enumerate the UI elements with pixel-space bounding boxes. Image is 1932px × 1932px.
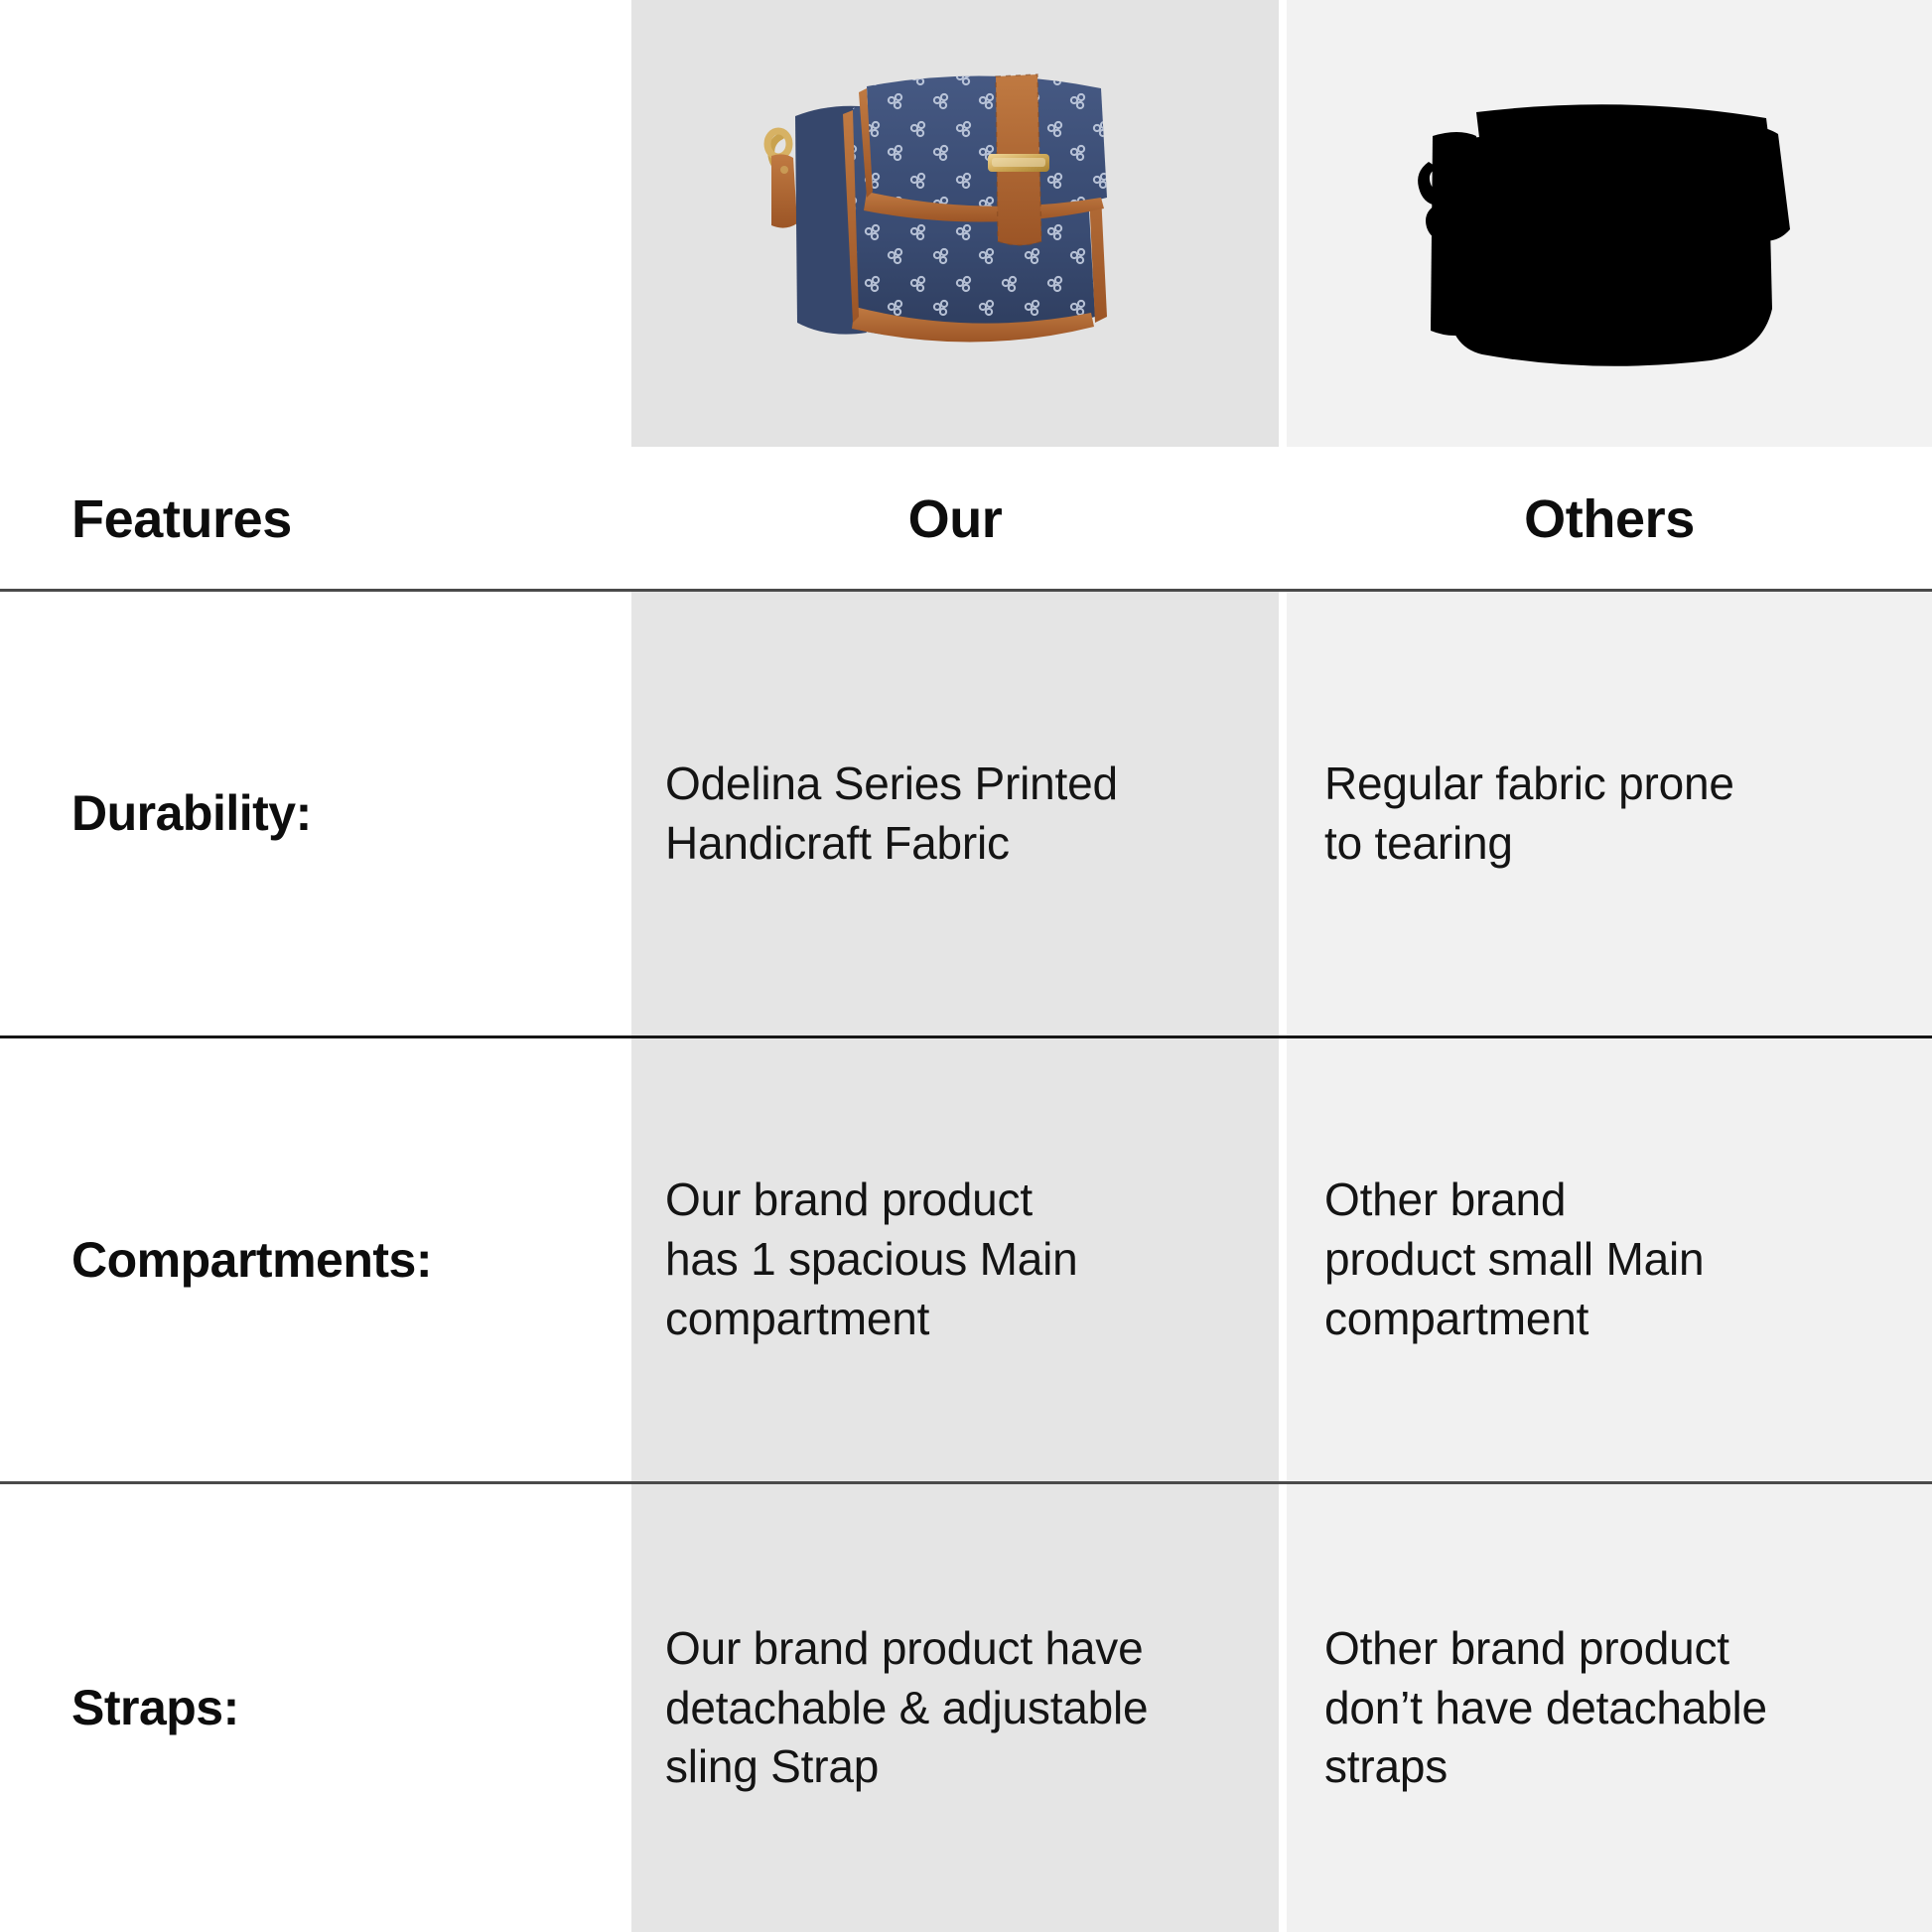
feature-cell-durability: Durability: — [0, 592, 631, 1035]
our-cell-compartments: Our brand product has 1 spacious Main co… — [631, 1038, 1279, 1481]
header-others: Others — [1287, 447, 1932, 591]
feature-label: Durability: — [71, 786, 312, 841]
comparison-table: Features Our Others Durability: Odelina … — [0, 0, 1932, 1932]
others-cell-text: Regular fabric prone to tearing — [1324, 755, 1734, 874]
feature-label: Straps: — [71, 1681, 239, 1735]
feature-label: Compartments: — [71, 1233, 432, 1288]
divider-below-header — [0, 589, 1932, 592]
black-bag-silhouette-image — [1391, 74, 1828, 372]
others-cell-text: Other brand product don’t have detachabl… — [1324, 1619, 1767, 1797]
our-cell-text: Odelina Series Printed Handicraft Fabric — [665, 755, 1118, 874]
others-product-image-cell — [1287, 0, 1932, 447]
others-cell-durability: Regular fabric prone to tearing — [1287, 592, 1932, 1035]
header-our: Our — [631, 447, 1279, 591]
our-cell-straps: Our brand product have detachable & adju… — [631, 1484, 1279, 1932]
header-features: Features — [71, 447, 292, 591]
divider-row-1-2 — [0, 1035, 1932, 1038]
table-row: Straps: Our brand product have detachabl… — [0, 1484, 1932, 1932]
our-cell-durability: Odelina Series Printed Handicraft Fabric — [631, 592, 1279, 1035]
denim-crossbody-bag-image — [722, 65, 1188, 382]
feature-cell-compartments: Compartments: — [0, 1038, 631, 1481]
divider-row-2-3 — [0, 1481, 1932, 1484]
feature-cell-straps: Straps: — [0, 1484, 631, 1932]
our-cell-text: Our brand product has 1 spacious Main co… — [665, 1171, 1078, 1348]
others-cell-straps: Other brand product don’t have detachabl… — [1287, 1484, 1932, 1932]
table-row: Compartments: Our brand product has 1 sp… — [0, 1038, 1932, 1481]
our-product-image-cell — [631, 0, 1279, 447]
others-cell-compartments: Other brand product small Main compartme… — [1287, 1038, 1932, 1481]
table-row: Durability: Odelina Series Printed Handi… — [0, 592, 1932, 1035]
product-image-row — [0, 0, 1932, 447]
table-header-row: Features Our Others — [0, 447, 1932, 591]
our-cell-text: Our brand product have detachable & adju… — [665, 1619, 1148, 1797]
others-cell-text: Other brand product small Main compartme… — [1324, 1171, 1704, 1348]
